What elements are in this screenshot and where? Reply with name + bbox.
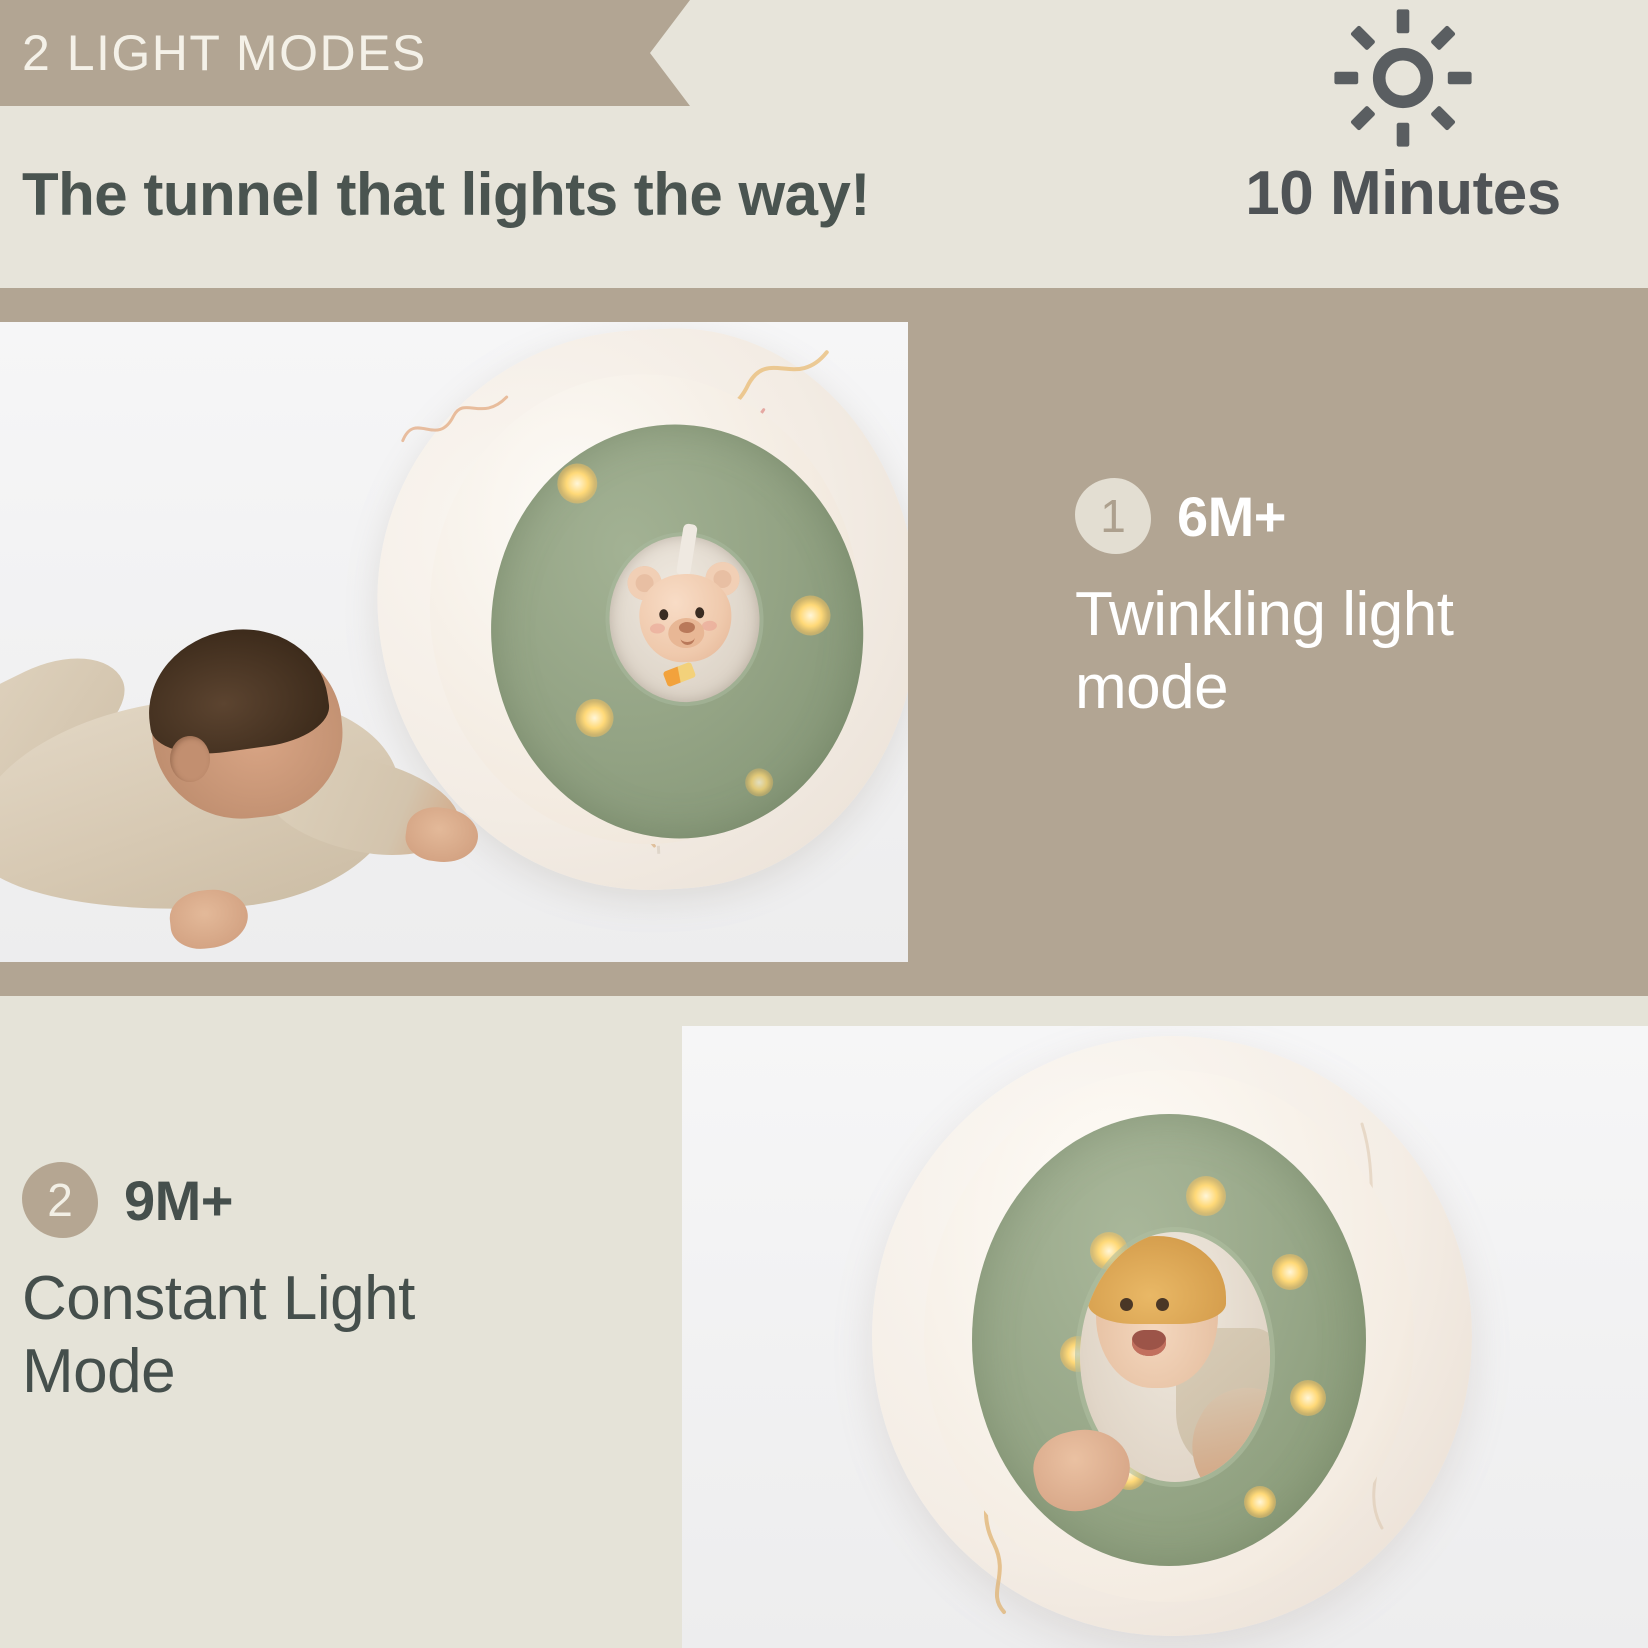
play-tunnel-bottom <box>872 1036 1472 1636</box>
led-light <box>789 594 831 636</box>
infographic-canvas: 2 LIGHT MODES The tunnel that lights the… <box>0 0 1648 1648</box>
baby-hand-right <box>403 803 482 866</box>
photo-baby-with-tunnel <box>0 322 908 962</box>
mode-one-heading: 1 6M+ <box>1075 478 1615 554</box>
mode-description-line: Constant Light <box>22 1262 582 1335</box>
mode-description: Constant Light Mode <box>22 1262 582 1408</box>
led-light <box>744 768 773 797</box>
led-light <box>1244 1486 1276 1518</box>
bear-ribbon-tag <box>663 662 697 688</box>
page-title: The tunnel that lights the way! <box>22 160 870 229</box>
sun-brightness-icon <box>1328 8 1478 148</box>
photo-toddler-in-tunnel <box>682 1026 1648 1648</box>
mode-number-badge: 1 <box>1075 478 1151 554</box>
toddler-eye-right <box>1156 1298 1169 1311</box>
mode-description-line: Twinkling light <box>1075 578 1615 651</box>
sage-green-ring-top <box>481 415 874 848</box>
sage-green-ring-bottom <box>972 1114 1366 1566</box>
teddy-bear-toy <box>629 559 743 676</box>
toddler-eye-left <box>1120 1298 1133 1311</box>
mode-two-text: 2 9M+ Constant Light Mode <box>22 1162 582 1408</box>
led-light <box>1290 1380 1326 1416</box>
led-light <box>556 463 598 505</box>
timer-duration: 10 Minutes <box>1245 158 1560 229</box>
mode-age-label: 9M+ <box>124 1168 233 1233</box>
header-band: 2 LIGHT MODES The tunnel that lights the… <box>0 0 1648 288</box>
toddler-mouth <box>1132 1330 1166 1356</box>
baby-ear <box>170 736 210 782</box>
mode-description-line: mode <box>1075 651 1615 724</box>
ribbon-label: 2 LIGHT MODES <box>0 24 427 82</box>
led-light <box>575 698 615 738</box>
mode-description: Twinkling light mode <box>1075 578 1615 724</box>
mode-age-label: 6M+ <box>1177 484 1286 549</box>
led-light <box>1272 1254 1308 1290</box>
mode-one-text: 1 6M+ Twinkling light mode <box>1075 478 1615 724</box>
led-light <box>1186 1176 1226 1216</box>
tunnel-rim-bottom <box>924 1070 1414 1602</box>
mode-description-line: Mode <box>22 1335 582 1408</box>
timer-block: 10 Minutes <box>1188 8 1618 229</box>
mode-number-badge: 2 <box>22 1162 98 1238</box>
light-modes-ribbon: 2 LIGHT MODES <box>0 0 690 106</box>
mode-two-heading: 2 9M+ <box>22 1162 582 1238</box>
tunnel-opening-top <box>605 532 763 706</box>
baby-subject-top <box>0 640 490 962</box>
